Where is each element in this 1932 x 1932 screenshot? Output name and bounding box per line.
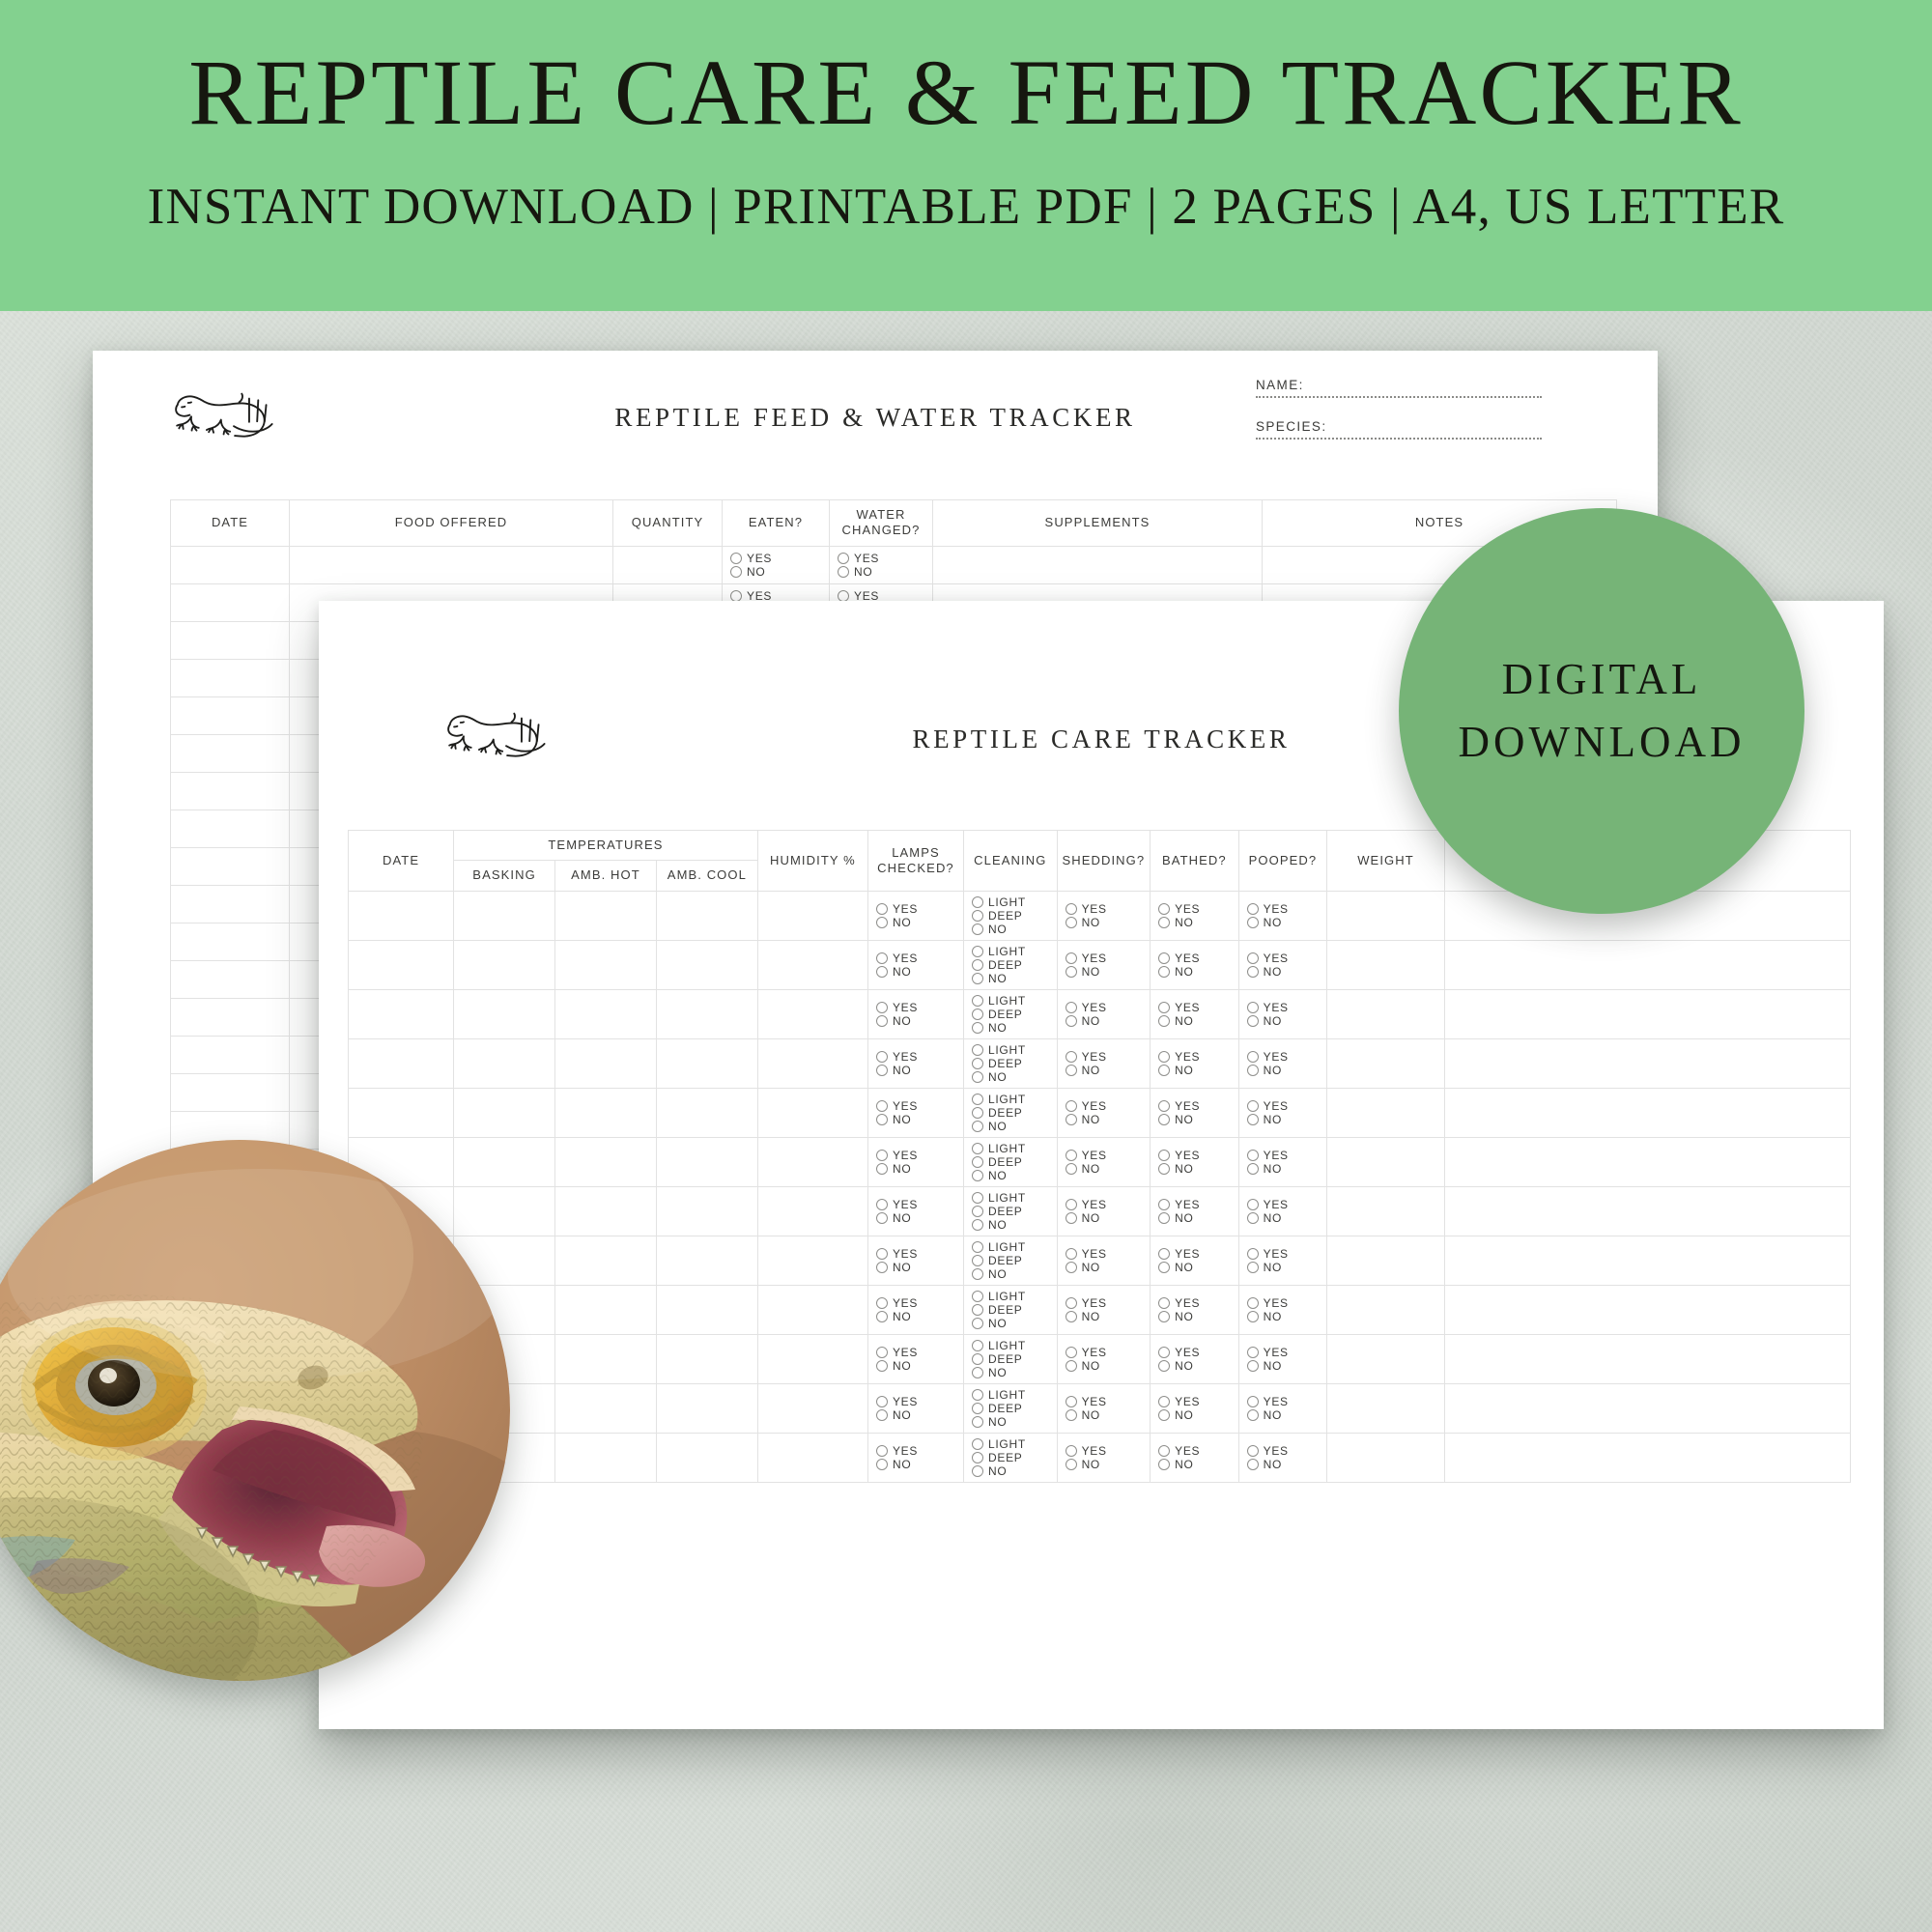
table-row[interactable]: YESNOLIGHTDEEPNOYESNOYESNOYESNO	[349, 940, 1851, 989]
radio-option[interactable]: NO	[1247, 1311, 1282, 1322]
cell-notes[interactable]	[1444, 989, 1850, 1038]
cell-amb-hot[interactable]	[555, 1433, 657, 1482]
radio-circle-icon[interactable]	[1065, 1459, 1077, 1470]
radio-option[interactable]: NO	[876, 1065, 911, 1076]
radio-option[interactable]: DEEP	[972, 1156, 1022, 1168]
radio-option[interactable]: NO	[838, 566, 872, 578]
cell-basking[interactable]	[454, 1137, 555, 1186]
cell-pooped[interactable]: YESNO	[1238, 891, 1327, 940]
radio-option[interactable]: DEEP	[972, 1058, 1022, 1069]
radio-option[interactable]: YES	[1247, 1248, 1289, 1260]
radio-circle-icon[interactable]	[1247, 1459, 1259, 1470]
radio-option[interactable]: YES	[876, 1150, 918, 1161]
radio-circle-icon[interactable]	[1247, 952, 1259, 964]
radio-circle-icon[interactable]	[1158, 1150, 1170, 1161]
radio-option[interactable]: YES	[1247, 1396, 1289, 1407]
cell-pooped[interactable]: YESNO	[1238, 1383, 1327, 1433]
radio-circle-icon[interactable]	[1247, 1248, 1259, 1260]
radio-circle-icon[interactable]	[876, 1409, 888, 1421]
cell-notes[interactable]	[1444, 1236, 1850, 1285]
radio-circle-icon[interactable]	[1247, 1150, 1259, 1161]
radio-circle-icon[interactable]	[1158, 1262, 1170, 1273]
radio-option[interactable]: NO	[1247, 1212, 1282, 1224]
radio-circle-icon[interactable]	[876, 1445, 888, 1457]
radio-circle-icon[interactable]	[1247, 1163, 1259, 1175]
radio-option[interactable]: YES	[1158, 1396, 1200, 1407]
radio-option[interactable]: YES	[1065, 1396, 1107, 1407]
cell-bathed[interactable]: YESNO	[1151, 891, 1239, 940]
radio-option[interactable]: NO	[1247, 1409, 1282, 1421]
radio-option[interactable]: YES	[1065, 1347, 1107, 1358]
cell-amb-hot[interactable]	[555, 940, 657, 989]
radio-option[interactable]: YES	[1158, 903, 1200, 915]
radio-option[interactable]: NO	[730, 566, 765, 578]
cell-date[interactable]	[171, 810, 290, 847]
radio-option[interactable]: NO	[1247, 966, 1282, 978]
radio-circle-icon[interactable]	[972, 1367, 983, 1378]
radio-option[interactable]: NO	[876, 1262, 911, 1273]
table-row[interactable]: YESNOLIGHTDEEPNOYESNOYESNOYESNO	[349, 1285, 1851, 1334]
cell-amb-hot[interactable]	[555, 1285, 657, 1334]
cell-cleaning[interactable]: LIGHTDEEPNO	[964, 940, 1058, 989]
radio-option[interactable]: NO	[972, 973, 1007, 984]
cell-lamps-checked[interactable]: YESNO	[867, 1186, 963, 1236]
radio-circle-icon[interactable]	[972, 1206, 983, 1217]
cell-pooped[interactable]: YESNO	[1238, 989, 1327, 1038]
radio-circle-icon[interactable]	[972, 1192, 983, 1204]
cell-pooped[interactable]: YESNO	[1238, 1137, 1327, 1186]
radio-circle-icon[interactable]	[1065, 1360, 1077, 1372]
radio-circle-icon[interactable]	[876, 1347, 888, 1358]
radio-circle-icon[interactable]	[1247, 1051, 1259, 1063]
table-row[interactable]: YESNOYESNO	[171, 546, 1617, 583]
cell-date[interactable]	[171, 847, 290, 885]
radio-circle-icon[interactable]	[972, 1156, 983, 1168]
cell-cleaning[interactable]: LIGHTDEEPNO	[964, 1334, 1058, 1383]
cell-amb-cool[interactable]	[656, 1186, 757, 1236]
radio-circle-icon[interactable]	[1158, 1114, 1170, 1125]
cell-amb-cool[interactable]	[656, 1433, 757, 1482]
radio-option[interactable]: YES	[1158, 1150, 1200, 1161]
radio-circle-icon[interactable]	[876, 1100, 888, 1112]
cell-basking[interactable]	[454, 989, 555, 1038]
radio-option[interactable]: YES	[1158, 1445, 1200, 1457]
radio-circle-icon[interactable]	[972, 1452, 983, 1463]
radio-circle-icon[interactable]	[972, 946, 983, 957]
radio-circle-icon[interactable]	[1158, 1015, 1170, 1027]
radio-circle-icon[interactable]	[1065, 917, 1077, 928]
cell-shedding[interactable]: YESNO	[1057, 1038, 1151, 1088]
cell-pooped[interactable]: YESNO	[1238, 1285, 1327, 1334]
radio-option[interactable]: DEEP	[972, 959, 1022, 971]
cell-humidity[interactable]	[757, 1038, 867, 1088]
cell-humidity[interactable]	[757, 1383, 867, 1433]
cell-lamps-checked[interactable]: YESNO	[867, 1285, 963, 1334]
cell-weight[interactable]	[1327, 1383, 1445, 1433]
cell-pooped[interactable]: YESNO	[1238, 1088, 1327, 1137]
radio-circle-icon[interactable]	[972, 1318, 983, 1329]
radio-circle-icon[interactable]	[972, 1094, 983, 1105]
radio-option[interactable]: YES	[1247, 1199, 1289, 1210]
cell-humidity[interactable]	[757, 1334, 867, 1383]
radio-option[interactable]: NO	[1158, 1311, 1193, 1322]
cell-cleaning[interactable]: LIGHTDEEPNO	[964, 1186, 1058, 1236]
cell-amb-hot[interactable]	[555, 1383, 657, 1433]
radio-option[interactable]: NO	[1158, 1163, 1193, 1175]
cell-date[interactable]	[171, 885, 290, 923]
radio-circle-icon[interactable]	[876, 1311, 888, 1322]
radio-circle-icon[interactable]	[1247, 1445, 1259, 1457]
radio-option[interactable]: NO	[972, 1465, 1007, 1477]
radio-option[interactable]: NO	[876, 1459, 911, 1470]
radio-option[interactable]: NO	[1247, 1262, 1282, 1273]
radio-circle-icon[interactable]	[1247, 1002, 1259, 1013]
radio-circle-icon[interactable]	[972, 1170, 983, 1181]
cell-date[interactable]	[171, 546, 290, 583]
radio-option[interactable]: NO	[1247, 1015, 1282, 1027]
radio-circle-icon[interactable]	[838, 553, 849, 564]
cell-notes[interactable]	[1444, 1137, 1850, 1186]
radio-circle-icon[interactable]	[1247, 1199, 1259, 1210]
cell-cleaning[interactable]: LIGHTDEEPNO	[964, 1088, 1058, 1137]
radio-option[interactable]: NO	[876, 966, 911, 978]
radio-option[interactable]: NO	[1158, 1360, 1193, 1372]
cell-amb-hot[interactable]	[555, 891, 657, 940]
cell-lamps-checked[interactable]: YESNO	[867, 1088, 963, 1137]
radio-circle-icon[interactable]	[876, 1459, 888, 1470]
radio-option[interactable]: DEEP	[972, 1206, 1022, 1217]
radio-circle-icon[interactable]	[1158, 1163, 1170, 1175]
radio-option[interactable]: YES	[1158, 1100, 1200, 1112]
radio-circle-icon[interactable]	[1158, 1360, 1170, 1372]
radio-circle-icon[interactable]	[1247, 917, 1259, 928]
radio-circle-icon[interactable]	[972, 923, 983, 935]
radio-option[interactable]: NO	[1065, 1459, 1100, 1470]
radio-circle-icon[interactable]	[876, 1199, 888, 1210]
radio-circle-icon[interactable]	[972, 1304, 983, 1316]
cell-cleaning[interactable]: LIGHTDEEPNO	[964, 891, 1058, 940]
cell-basking[interactable]	[454, 1186, 555, 1236]
cell-shedding[interactable]: YESNO	[1057, 1186, 1151, 1236]
radio-option[interactable]: DEEP	[972, 1255, 1022, 1266]
radio-option[interactable]: NO	[972, 1318, 1007, 1329]
radio-option[interactable]: LIGHT	[972, 1438, 1026, 1450]
radio-option[interactable]: NO	[1065, 1163, 1100, 1175]
radio-circle-icon[interactable]	[1065, 966, 1077, 978]
cell-bathed[interactable]: YESNO	[1151, 940, 1239, 989]
radio-circle-icon[interactable]	[1158, 1100, 1170, 1112]
cell-amb-cool[interactable]	[656, 1285, 757, 1334]
cell-date[interactable]	[349, 940, 454, 989]
radio-option[interactable]: NO	[876, 1360, 911, 1372]
radio-option[interactable]: YES	[1158, 952, 1200, 964]
cell-water-changed[interactable]: YESNO	[830, 546, 933, 583]
radio-circle-icon[interactable]	[1065, 1150, 1077, 1161]
radio-circle-icon[interactable]	[1158, 1459, 1170, 1470]
radio-option[interactable]: NO	[1065, 966, 1100, 978]
cell-amb-cool[interactable]	[656, 989, 757, 1038]
radio-circle-icon[interactable]	[1065, 1445, 1077, 1457]
cell-amb-hot[interactable]	[555, 989, 657, 1038]
radio-circle-icon[interactable]	[972, 1009, 983, 1020]
radio-option[interactable]: YES	[838, 590, 879, 602]
cell-date[interactable]	[349, 989, 454, 1038]
radio-circle-icon[interactable]	[1158, 1002, 1170, 1013]
radio-circle-icon[interactable]	[972, 1291, 983, 1302]
radio-option[interactable]: LIGHT	[972, 1291, 1026, 1302]
cell-amb-hot[interactable]	[555, 1137, 657, 1186]
cell-shedding[interactable]: YESNO	[1057, 1236, 1151, 1285]
radio-option[interactable]: NO	[972, 1121, 1007, 1132]
radio-option[interactable]: YES	[730, 590, 772, 602]
radio-option[interactable]: YES	[1247, 1002, 1289, 1013]
radio-option[interactable]: NO	[972, 1170, 1007, 1181]
radio-option[interactable]: YES	[876, 1051, 918, 1063]
radio-circle-icon[interactable]	[730, 590, 742, 602]
radio-option[interactable]: YES	[1247, 1297, 1289, 1309]
radio-option[interactable]: YES	[876, 1445, 918, 1457]
cell-notes[interactable]	[1444, 940, 1850, 989]
radio-option[interactable]: LIGHT	[972, 1094, 1026, 1105]
radio-option[interactable]: NO	[1065, 1360, 1100, 1372]
cell-pooped[interactable]: YESNO	[1238, 1236, 1327, 1285]
radio-circle-icon[interactable]	[876, 903, 888, 915]
radio-option[interactable]: YES	[876, 1347, 918, 1358]
radio-option[interactable]: NO	[1158, 1262, 1193, 1273]
radio-option[interactable]: NO	[876, 1212, 911, 1224]
cell-cleaning[interactable]: LIGHTDEEPNO	[964, 1137, 1058, 1186]
radio-option[interactable]: YES	[876, 1199, 918, 1210]
cell-bathed[interactable]: YESNO	[1151, 1137, 1239, 1186]
radio-circle-icon[interactable]	[1247, 1262, 1259, 1273]
cell-food-offered[interactable]	[290, 546, 613, 583]
radio-circle-icon[interactable]	[1065, 1051, 1077, 1063]
cell-date[interactable]	[171, 621, 290, 659]
radio-option[interactable]: LIGHT	[972, 1044, 1026, 1056]
radio-option[interactable]: YES	[876, 1100, 918, 1112]
radio-circle-icon[interactable]	[876, 1150, 888, 1161]
radio-option[interactable]: NO	[1065, 1015, 1100, 1027]
cell-lamps-checked[interactable]: YESNO	[867, 1038, 963, 1088]
radio-circle-icon[interactable]	[972, 1044, 983, 1056]
radio-option[interactable]: NO	[876, 1163, 911, 1175]
radio-option[interactable]: YES	[1247, 952, 1289, 964]
radio-option[interactable]: YES	[1247, 1445, 1289, 1457]
radio-circle-icon[interactable]	[972, 1465, 983, 1477]
radio-option[interactable]: YES	[1158, 1248, 1200, 1260]
radio-circle-icon[interactable]	[1065, 1002, 1077, 1013]
radio-circle-icon[interactable]	[1247, 966, 1259, 978]
radio-circle-icon[interactable]	[1065, 1114, 1077, 1125]
cell-amb-cool[interactable]	[656, 940, 757, 989]
cell-cleaning[interactable]: LIGHTDEEPNO	[964, 1285, 1058, 1334]
table-row[interactable]: YESNOLIGHTDEEPNOYESNOYESNOYESNO	[349, 1383, 1851, 1433]
cell-pooped[interactable]: YESNO	[1238, 1334, 1327, 1383]
cell-basking[interactable]	[454, 1088, 555, 1137]
radio-option[interactable]: YES	[1065, 952, 1107, 964]
table-row[interactable]: YESNOLIGHTDEEPNOYESNOYESNOYESNO	[349, 1186, 1851, 1236]
radio-option[interactable]: YES	[876, 952, 918, 964]
radio-option[interactable]: YES	[1065, 1248, 1107, 1260]
radio-option[interactable]: NO	[972, 1268, 1007, 1280]
radio-circle-icon[interactable]	[972, 1241, 983, 1253]
cell-notes[interactable]	[1444, 1285, 1850, 1334]
radio-circle-icon[interactable]	[876, 1297, 888, 1309]
cell-weight[interactable]	[1327, 1236, 1445, 1285]
cell-bathed[interactable]: YESNO	[1151, 1383, 1239, 1433]
cell-amb-cool[interactable]	[656, 1334, 757, 1383]
radio-circle-icon[interactable]	[1065, 1409, 1077, 1421]
cell-date[interactable]	[171, 583, 290, 621]
radio-option[interactable]: YES	[876, 1002, 918, 1013]
cell-bathed[interactable]: YESNO	[1151, 1186, 1239, 1236]
cell-notes[interactable]	[1444, 1383, 1850, 1433]
radio-circle-icon[interactable]	[1065, 1396, 1077, 1407]
radio-option[interactable]: YES	[1247, 1347, 1289, 1358]
radio-option[interactable]: NO	[1065, 1409, 1100, 1421]
radio-circle-icon[interactable]	[972, 959, 983, 971]
radio-option[interactable]: NO	[1247, 1163, 1282, 1175]
cell-date[interactable]	[171, 923, 290, 960]
radio-option[interactable]: YES	[1247, 1150, 1289, 1161]
radio-option[interactable]: YES	[1247, 903, 1289, 915]
radio-circle-icon[interactable]	[972, 1438, 983, 1450]
cell-weight[interactable]	[1327, 1186, 1445, 1236]
radio-circle-icon[interactable]	[1065, 903, 1077, 915]
cell-date[interactable]	[171, 659, 290, 696]
table-row[interactable]: YESNOLIGHTDEEPNOYESNOYESNOYESNO	[349, 1137, 1851, 1186]
radio-circle-icon[interactable]	[1158, 1248, 1170, 1260]
radio-option[interactable]: NO	[1247, 1360, 1282, 1372]
radio-option[interactable]: LIGHT	[972, 1143, 1026, 1154]
radio-circle-icon[interactable]	[1158, 952, 1170, 964]
radio-option[interactable]: LIGHT	[972, 946, 1026, 957]
cell-weight[interactable]	[1327, 989, 1445, 1038]
radio-circle-icon[interactable]	[838, 590, 849, 602]
radio-circle-icon[interactable]	[1158, 1409, 1170, 1421]
radio-circle-icon[interactable]	[1247, 1360, 1259, 1372]
radio-option[interactable]: NO	[1247, 1114, 1282, 1125]
cell-amb-hot[interactable]	[555, 1334, 657, 1383]
cell-lamps-checked[interactable]: YESNO	[867, 891, 963, 940]
cell-shedding[interactable]: YESNO	[1057, 1383, 1151, 1433]
radio-circle-icon[interactable]	[1247, 1065, 1259, 1076]
radio-option[interactable]: NO	[1158, 966, 1193, 978]
radio-option[interactable]: YES	[1065, 903, 1107, 915]
radio-option[interactable]: NO	[1158, 1409, 1193, 1421]
cell-humidity[interactable]	[757, 1236, 867, 1285]
care-tracker-table[interactable]: DATETEMPERATURESHUMIDITY %LAMPS CHECKED?…	[348, 830, 1851, 1483]
cell-amb-hot[interactable]	[555, 1186, 657, 1236]
radio-option[interactable]: YES	[876, 1297, 918, 1309]
cell-weight[interactable]	[1327, 1038, 1445, 1088]
radio-circle-icon[interactable]	[972, 1340, 983, 1351]
cell-date[interactable]	[171, 734, 290, 772]
cell-humidity[interactable]	[757, 940, 867, 989]
radio-circle-icon[interactable]	[876, 952, 888, 964]
cell-lamps-checked[interactable]: YESNO	[867, 1334, 963, 1383]
radio-circle-icon[interactable]	[1065, 1311, 1077, 1322]
radio-option[interactable]: YES	[1065, 1150, 1107, 1161]
cell-shedding[interactable]: YESNO	[1057, 891, 1151, 940]
radio-circle-icon[interactable]	[972, 1107, 983, 1119]
radio-circle-icon[interactable]	[1247, 1347, 1259, 1358]
cell-notes[interactable]	[1444, 1334, 1850, 1383]
cell-amb-hot[interactable]	[555, 1088, 657, 1137]
radio-circle-icon[interactable]	[972, 995, 983, 1007]
radio-option[interactable]: LIGHT	[972, 1192, 1026, 1204]
cell-bathed[interactable]: YESNO	[1151, 1088, 1239, 1137]
cell-date[interactable]	[349, 891, 454, 940]
radio-option[interactable]: YES	[1247, 1051, 1289, 1063]
radio-circle-icon[interactable]	[972, 1403, 983, 1414]
cell-humidity[interactable]	[757, 1088, 867, 1137]
cell-date[interactable]	[171, 998, 290, 1036]
cell-shedding[interactable]: YESNO	[1057, 940, 1151, 989]
radio-option[interactable]: YES	[1065, 1445, 1107, 1457]
radio-option[interactable]: NO	[972, 1071, 1007, 1083]
cell-bathed[interactable]: YESNO	[1151, 989, 1239, 1038]
radio-option[interactable]: YES	[1065, 1051, 1107, 1063]
table-row[interactable]: YESNOLIGHTDEEPNOYESNOYESNOYESNO	[349, 989, 1851, 1038]
radio-option[interactable]: NO	[972, 1367, 1007, 1378]
radio-option[interactable]: YES	[1158, 1347, 1200, 1358]
cell-lamps-checked[interactable]: YESNO	[867, 1383, 963, 1433]
cell-basking[interactable]	[454, 1038, 555, 1088]
radio-circle-icon[interactable]	[876, 1002, 888, 1013]
cell-date[interactable]	[171, 1073, 290, 1111]
radio-option[interactable]: NO	[1065, 1212, 1100, 1224]
cell-amb-hot[interactable]	[555, 1038, 657, 1088]
radio-circle-icon[interactable]	[972, 1022, 983, 1034]
radio-circle-icon[interactable]	[1065, 1015, 1077, 1027]
cell-shedding[interactable]: YESNO	[1057, 1285, 1151, 1334]
cell-supplements[interactable]	[933, 546, 1263, 583]
cell-pooped[interactable]: YESNO	[1238, 940, 1327, 989]
radio-circle-icon[interactable]	[1158, 1445, 1170, 1457]
radio-circle-icon[interactable]	[1158, 1396, 1170, 1407]
radio-option[interactable]: NO	[1158, 917, 1193, 928]
radio-option[interactable]: YES	[876, 903, 918, 915]
radio-circle-icon[interactable]	[972, 1268, 983, 1280]
radio-circle-icon[interactable]	[876, 1114, 888, 1125]
radio-option[interactable]: NO	[876, 1015, 911, 1027]
radio-option[interactable]: YES	[1158, 1051, 1200, 1063]
radio-option[interactable]: NO	[1065, 1065, 1100, 1076]
radio-option[interactable]: DEEP	[972, 1009, 1022, 1020]
radio-option[interactable]: NO	[972, 1022, 1007, 1034]
cell-shedding[interactable]: YESNO	[1057, 1088, 1151, 1137]
radio-circle-icon[interactable]	[1158, 1212, 1170, 1224]
cell-amb-hot[interactable]	[555, 1236, 657, 1285]
radio-circle-icon[interactable]	[1158, 1199, 1170, 1210]
radio-circle-icon[interactable]	[1247, 1297, 1259, 1309]
cell-lamps-checked[interactable]: YESNO	[867, 1137, 963, 1186]
radio-option[interactable]: YES	[838, 553, 879, 564]
radio-circle-icon[interactable]	[876, 1248, 888, 1260]
cell-cleaning[interactable]: LIGHTDEEPNO	[964, 1038, 1058, 1088]
radio-circle-icon[interactable]	[1158, 1065, 1170, 1076]
cell-weight[interactable]	[1327, 1334, 1445, 1383]
cell-quantity[interactable]	[613, 546, 723, 583]
cell-humidity[interactable]	[757, 1433, 867, 1482]
cell-lamps-checked[interactable]: YESNO	[867, 989, 963, 1038]
radio-circle-icon[interactable]	[876, 1015, 888, 1027]
radio-option[interactable]: NO	[876, 1114, 911, 1125]
cell-weight[interactable]	[1327, 1285, 1445, 1334]
radio-option[interactable]: NO	[876, 1311, 911, 1322]
radio-option[interactable]: YES	[876, 1396, 918, 1407]
